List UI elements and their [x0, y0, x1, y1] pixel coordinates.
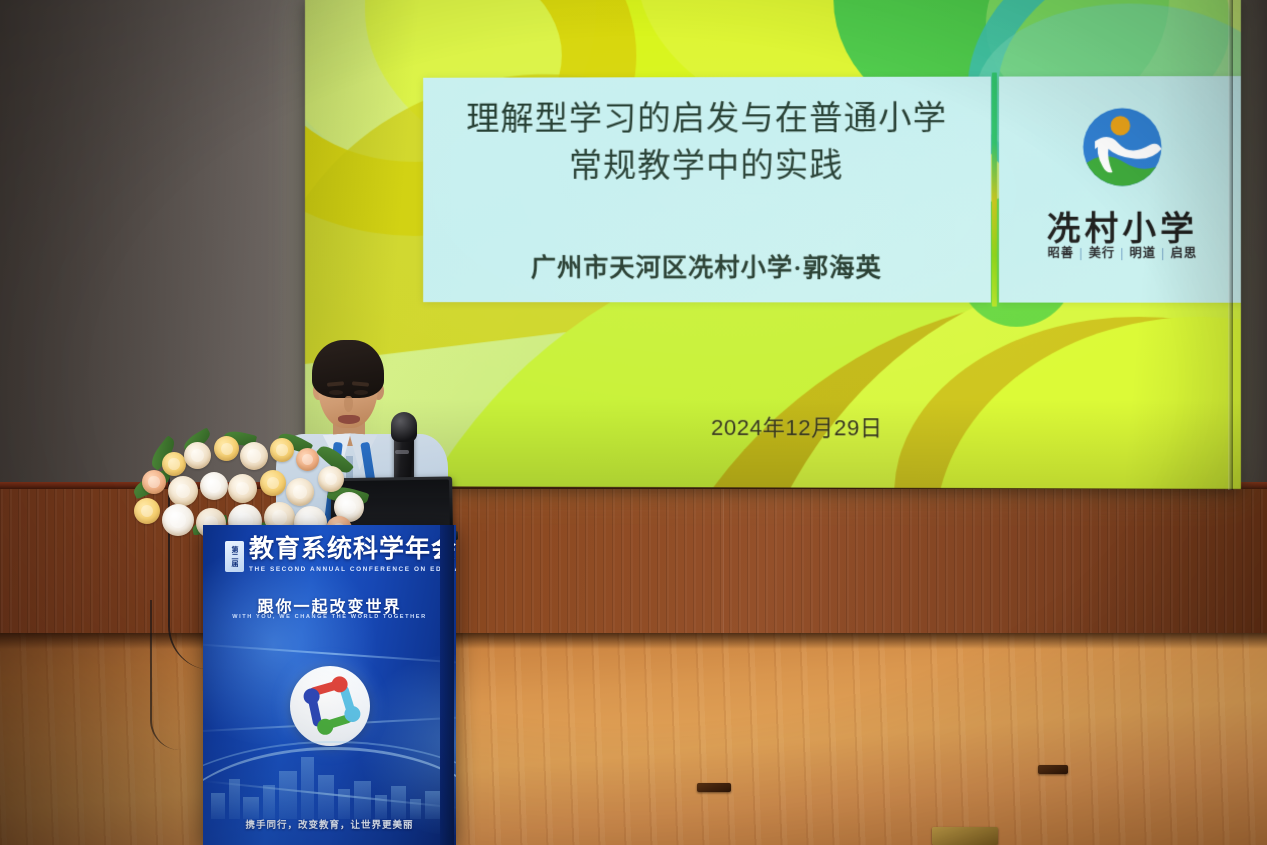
- speaker-eye-left: [329, 390, 343, 395]
- rose: [142, 470, 166, 494]
- rose: [162, 452, 186, 476]
- floor-hatch-left: [697, 783, 731, 792]
- rose: [240, 442, 268, 470]
- school-name: 冼村小学: [999, 202, 1241, 251]
- microphone-grill: [395, 450, 409, 454]
- slide-title-panel: 理解型学习的启发与在普通小学 常规教学中的实践 广州市天河区冼村小学·郭海英: [423, 77, 991, 303]
- conference-headline: 教育系统科学年会: [249, 537, 449, 562]
- microphone-cable-lower: [150, 600, 180, 750]
- floor-hatch-right: [1038, 765, 1068, 774]
- conference-logo: [290, 666, 370, 746]
- school-emblem-icon: [1073, 98, 1171, 195]
- conference-slogan-english: WITH YOU, WE CHANGE THE WORLD TOGETHER: [203, 614, 456, 620]
- motto-word-3: 明道: [1130, 244, 1157, 261]
- rose: [270, 438, 294, 462]
- speaker-hair: [312, 340, 384, 398]
- slide-title-line-1: 理解型学习的启发与在普通小学: [423, 95, 991, 143]
- stage-floor: [0, 633, 1267, 845]
- rose: [318, 466, 344, 492]
- podium-side-face: [440, 525, 454, 845]
- rose: [214, 436, 239, 461]
- motto-word-2: 美行: [1089, 244, 1116, 261]
- slide-title: 理解型学习的启发与在普通小学 常规教学中的实践: [423, 95, 991, 190]
- conference-headline-english: THE SECOND ANNUAL CONFERENCE ON EDUCATIO…: [249, 566, 456, 573]
- rose: [286, 478, 314, 506]
- rose: [134, 498, 160, 524]
- rose: [168, 476, 198, 506]
- rose: [200, 472, 228, 500]
- rose: [260, 470, 286, 496]
- edition-badge: 第二届: [225, 541, 244, 572]
- rose: [228, 474, 257, 503]
- podium-footer-slogan: 携手同行，改变教育，让世界更美丽: [203, 817, 456, 831]
- motto-separator-2: |: [1120, 246, 1124, 260]
- motto-word-1: 昭善: [1048, 244, 1075, 261]
- motto-word-4: 启思: [1171, 244, 1198, 261]
- rose: [184, 442, 211, 469]
- motto-separator-1: |: [1079, 246, 1083, 260]
- speaker-nose: [344, 396, 353, 412]
- microphone-head-icon: [391, 412, 417, 442]
- panel-divider: [992, 73, 997, 307]
- school-motto: 昭善 | 美行 | 明道 | 启思: [999, 244, 1241, 261]
- podium-banner: 第二届 教育系统科学年会 THE SECOND ANNUAL CONFERENC…: [203, 525, 456, 845]
- motto-separator-3: |: [1161, 246, 1165, 260]
- speaker-eye-right: [354, 390, 368, 395]
- floor-outlet-brass: [932, 827, 998, 845]
- rose: [296, 448, 319, 471]
- upper-wall-shadow-left: [0, 0, 300, 500]
- slide-date: 2024年12月29日: [711, 410, 882, 443]
- school-logo-panel: 冼村小学 昭善 | 美行 | 明道 | 启思: [999, 76, 1241, 303]
- network-nodes-icon: [290, 666, 370, 746]
- presentation-photo: 理解型学习的启发与在普通小学 常规教学中的实践 广州市天河区冼村小学·郭海英: [0, 0, 1267, 845]
- speaker-mouth: [338, 415, 360, 424]
- rose: [162, 504, 194, 536]
- slide-subtitle: 广州市天河区冼村小学·郭海英: [423, 248, 991, 284]
- screen-right-edge: [1228, 0, 1233, 490]
- slide-title-line-2: 常规教学中的实践: [423, 142, 991, 190]
